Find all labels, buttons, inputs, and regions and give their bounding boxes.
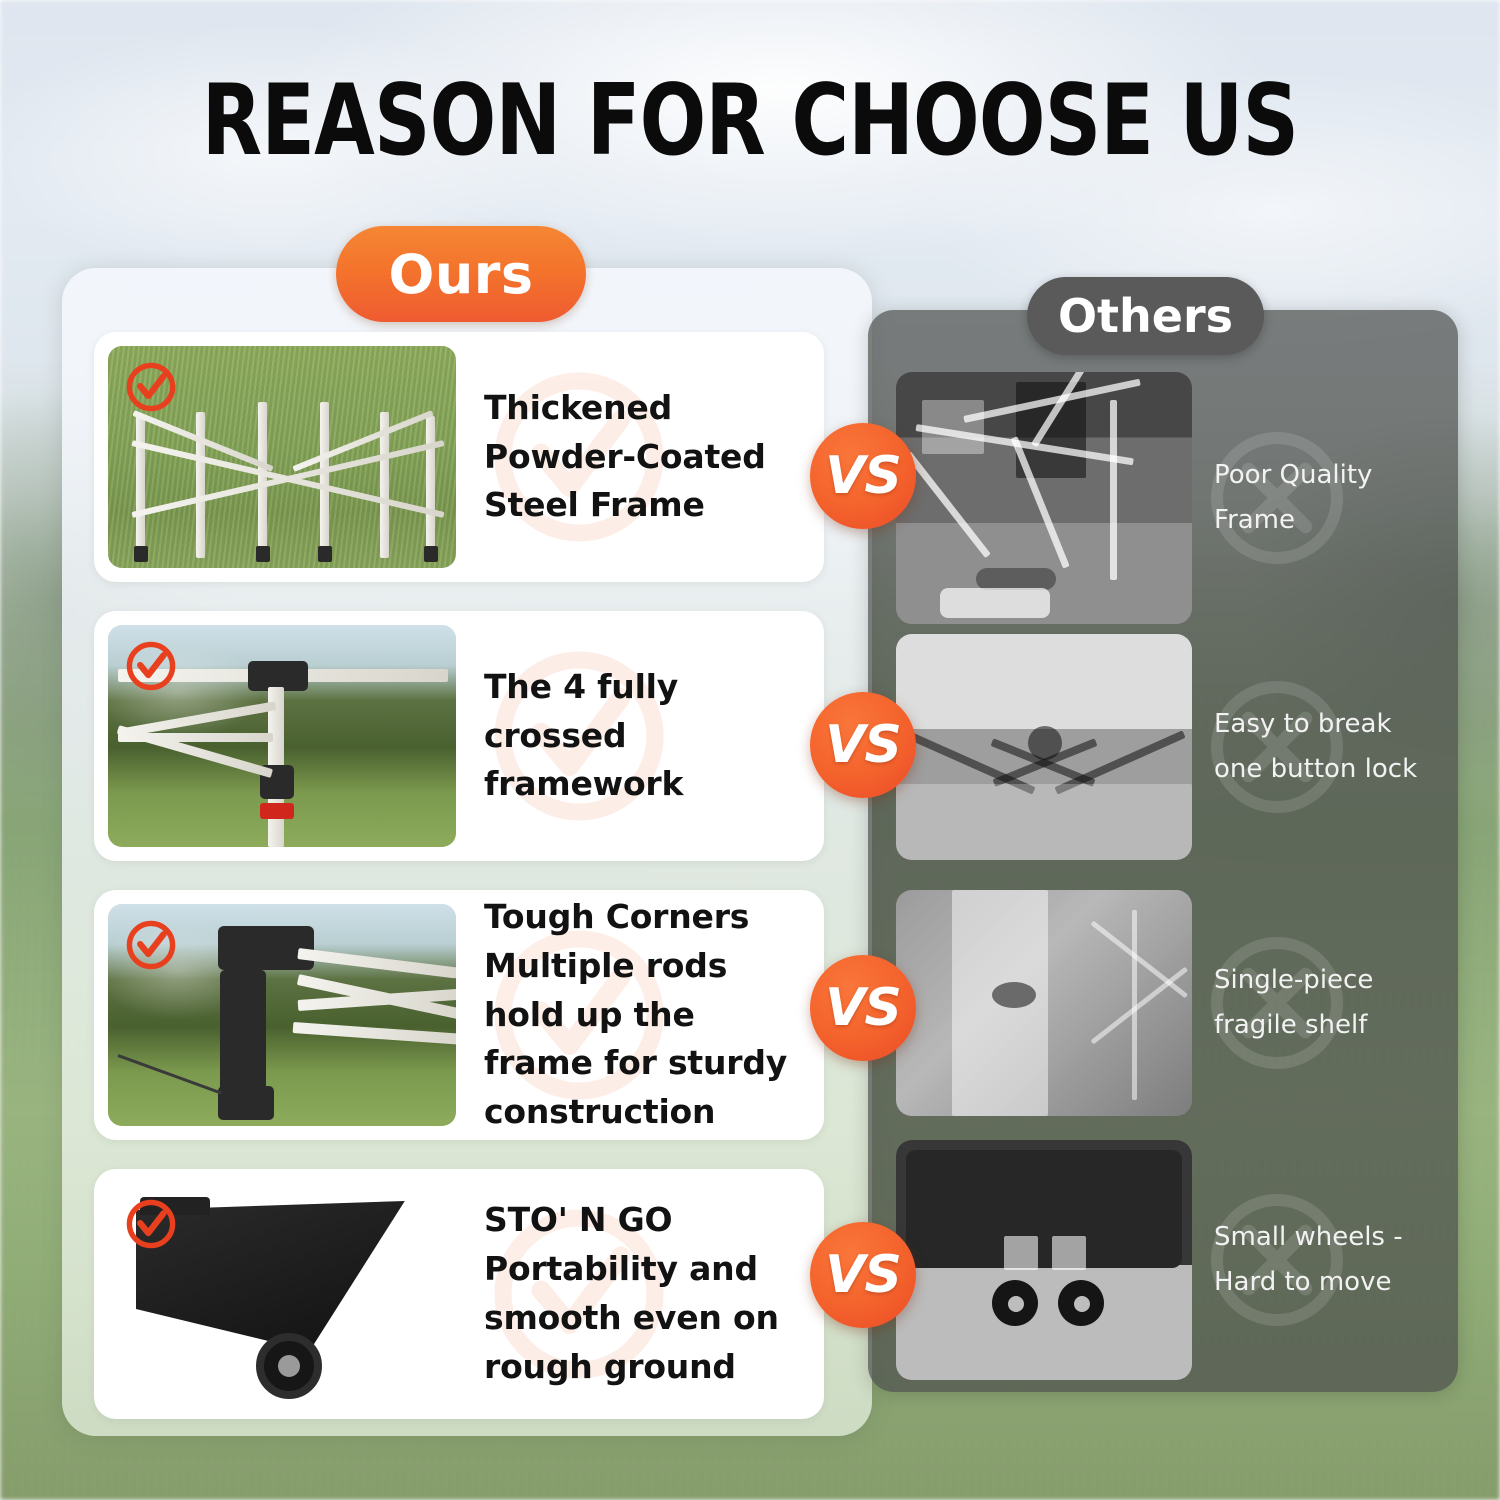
others-row-3: Single-piece fragile shelf bbox=[896, 890, 1430, 1116]
ours-text-4-label: STO' N GO Portability and smooth even on… bbox=[484, 1200, 779, 1385]
vs-badge-3: VS bbox=[810, 955, 916, 1061]
others-text-3-label: Single-piece fragile shelf bbox=[1214, 965, 1373, 1041]
watermark-cross-circle-icon bbox=[1202, 1185, 1352, 1335]
others-row-1: Poor Quality Frame bbox=[896, 372, 1430, 624]
others-text-4: Small wheels - Hard to move bbox=[1192, 1215, 1430, 1306]
vs-badge-1: VS bbox=[810, 423, 916, 529]
watermark-cross-circle-icon bbox=[1202, 672, 1352, 822]
watermark-cross-circle-icon bbox=[1202, 928, 1352, 1078]
ours-row-2: The 4 fully crossed framework bbox=[94, 611, 824, 861]
others-text-1: Poor Quality Frame bbox=[1192, 453, 1430, 544]
vs-badge-4: VS bbox=[810, 1222, 916, 1328]
ours-text-2: The 4 fully crossed framework bbox=[456, 663, 824, 809]
others-row-4: Small wheels - Hard to move bbox=[896, 1140, 1430, 1380]
others-image-4 bbox=[896, 1140, 1192, 1380]
ours-row-1: Thickened Powder-Coated Steel Frame bbox=[94, 332, 824, 582]
watermark-cross-circle-icon bbox=[1202, 423, 1352, 573]
vs-badge-2: VS bbox=[810, 692, 916, 798]
ours-thumbnail-1 bbox=[108, 346, 456, 568]
others-text-1-label: Poor Quality Frame bbox=[1214, 460, 1372, 536]
ours-text-4: STO' N GO Portability and smooth even on… bbox=[456, 1196, 824, 1391]
ours-row-3: Tough Corners Multiple rods hold up the … bbox=[94, 890, 824, 1140]
ours-column-badge: Ours bbox=[336, 226, 586, 322]
others-image-3 bbox=[896, 890, 1192, 1116]
others-text-3: Single-piece fragile shelf bbox=[1192, 958, 1430, 1049]
ours-text-1: Thickened Powder-Coated Steel Frame bbox=[456, 384, 824, 530]
others-text-4-label: Small wheels - Hard to move bbox=[1214, 1222, 1403, 1298]
others-text-2: Easy to break one button lock bbox=[1192, 702, 1430, 793]
check-circle-icon bbox=[124, 918, 178, 972]
ours-text-2-label: The 4 fully crossed framework bbox=[484, 667, 683, 804]
others-thumbnail-1 bbox=[896, 372, 1192, 624]
others-thumbnail-3 bbox=[896, 890, 1192, 1116]
ours-row-4: STO' N GO Portability and smooth even on… bbox=[94, 1169, 824, 1419]
others-image-2 bbox=[896, 634, 1192, 860]
others-thumbnail-4 bbox=[896, 1140, 1192, 1380]
others-row-2: Easy to break one button lock bbox=[896, 634, 1430, 860]
others-image-1 bbox=[896, 372, 1192, 624]
ours-thumbnail-3 bbox=[108, 904, 456, 1126]
ours-text-1-label: Thickened Powder-Coated Steel Frame bbox=[484, 388, 766, 525]
page-title: REASON FOR CHOOSE US bbox=[150, 72, 1350, 170]
ours-text-3-label: Tough Corners Multiple rods hold up the … bbox=[484, 897, 787, 1131]
others-text-2-label: Easy to break one button lock bbox=[1214, 709, 1417, 785]
check-circle-icon bbox=[124, 639, 178, 693]
others-column-badge: Others bbox=[1027, 277, 1264, 355]
ours-thumbnail-2 bbox=[108, 625, 456, 847]
check-circle-icon bbox=[124, 1197, 178, 1251]
ours-thumbnail-4 bbox=[108, 1183, 456, 1405]
check-circle-icon bbox=[124, 360, 178, 414]
others-thumbnail-2 bbox=[896, 634, 1192, 860]
ours-text-3: Tough Corners Multiple rods hold up the … bbox=[456, 893, 824, 1137]
